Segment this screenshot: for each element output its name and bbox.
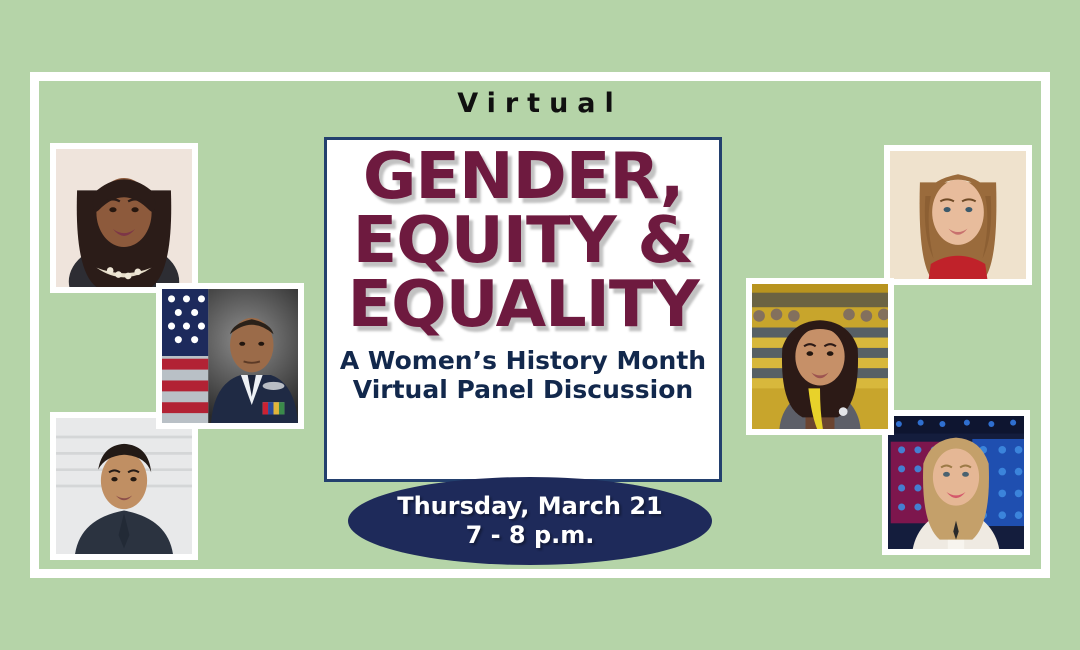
title-card: GENDER, EQUITY & EQUALITY A Women’s Hist… [324,137,722,482]
us-flag [162,289,208,423]
panelist-photo-1 [50,143,198,293]
subtitle-line-2: Virtual Panel Discussion [340,376,706,405]
date-badge-line-1: Thursday, March 21 [397,492,663,521]
panelist-photo-4 [884,145,1032,285]
subtitle-line-1: A Women’s History Month [340,347,706,376]
kicker-virtual: Virtual [0,88,1080,119]
panelist-photo-3 [50,412,198,560]
panelist-photo-5 [746,278,894,435]
subtitle: A Women’s History Month Virtual Panel Di… [340,347,706,405]
headline-line-1: GENDER, [363,147,684,208]
panelist-photo-4-image [890,151,1026,279]
panelist-photo-6-image [888,416,1024,549]
headline-line-3: EQUALITY [347,275,698,336]
date-badge: Thursday, March 21 7 - 8 p.m. [348,477,712,565]
event-poster: Virtual GENDER, EQUITY & EQUALITY A Wome… [0,0,1080,650]
panelist-photo-3-image [56,418,192,554]
panelist-photo-2-image [162,289,298,423]
panelist-photo-5-image [752,284,888,429]
headline-line-2: EQUITY & [353,211,694,272]
panelist-photo-1-image [56,149,192,287]
panelist-photo-2 [156,283,304,429]
date-badge-line-2: 7 - 8 p.m. [466,521,595,550]
panelist-photo-6 [882,410,1030,555]
